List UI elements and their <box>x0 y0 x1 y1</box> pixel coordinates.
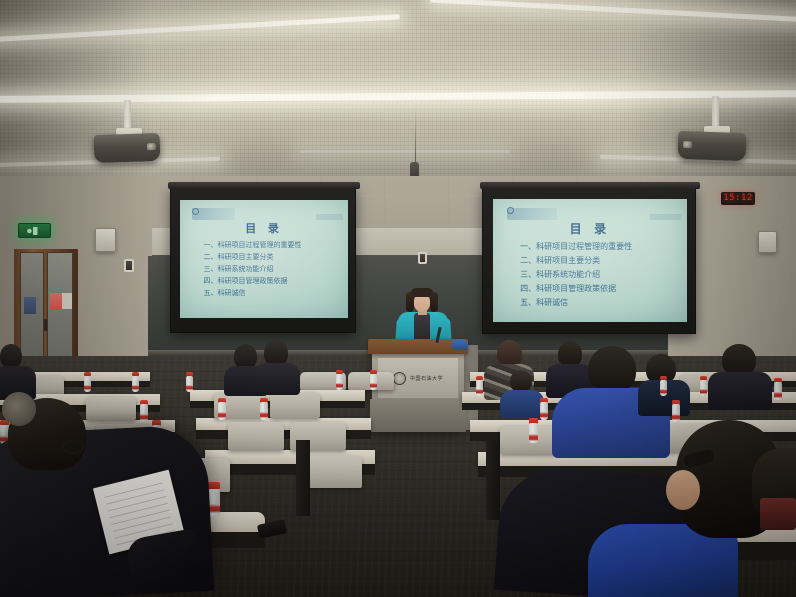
door-notice-white <box>62 293 72 309</box>
bottle-body <box>218 402 226 420</box>
wall-camera-device <box>418 252 427 264</box>
door-notice-red <box>50 293 62 310</box>
bottle-label <box>132 385 139 390</box>
bottle-label <box>700 389 707 394</box>
attendee-torso <box>500 390 544 418</box>
slide-toc-item-1: 一、科研项目过程管理的重要性 <box>204 240 338 250</box>
ceiling-light-strip <box>300 150 510 153</box>
projector-left <box>94 133 161 163</box>
bottle-body <box>476 380 483 396</box>
water-bottle[interactable] <box>132 372 139 392</box>
bottle-body <box>774 382 782 400</box>
right-screen: 目 录 一、科研项目过程管理的重要性 二、科研项目主要分类 三、科研系统功能介绍… <box>482 186 696 334</box>
bottle-label <box>218 412 226 418</box>
bottle-label <box>476 389 483 394</box>
bottle-body <box>660 380 667 396</box>
slide-toc-item-3: 三、科研系统功能介绍 <box>204 264 338 274</box>
slide-toc-item-5: 五、科研诚信 <box>520 297 675 308</box>
water-bottle[interactable] <box>700 376 707 396</box>
right-screen-roller <box>480 182 700 189</box>
attendee-torso <box>254 363 300 395</box>
water-bottle[interactable] <box>660 376 667 396</box>
bottle-label <box>540 412 548 418</box>
bottle-label <box>370 383 377 388</box>
slide-toc-item-4: 四、科研项目管理政策依据 <box>204 276 338 286</box>
wall-speaker-right <box>758 231 777 253</box>
wall-clock-time: 15:12 <box>723 194 753 203</box>
left-screen-surface: 目 录 一、科研项目过程管理的重要性 二、科研项目主要分类 三、科研系统功能介绍… <box>180 200 348 318</box>
slide-logo-mark-icon <box>507 207 514 214</box>
attendee-head <box>0 344 22 368</box>
water-bottle[interactable] <box>774 378 782 400</box>
podium-lower-shelf <box>370 399 466 432</box>
left-screen: 目 录 一、科研项目过程管理的重要性 二、科研项目主要分类 三、科研系统功能介绍… <box>170 186 356 333</box>
bottle-label <box>672 414 680 420</box>
water-bottle[interactable] <box>476 376 483 396</box>
water-bottle[interactable] <box>672 400 680 422</box>
projector-mount-pole <box>124 100 131 130</box>
door-notice-blue <box>24 297 36 314</box>
bottle-body <box>529 423 538 443</box>
eyeglasses-icon <box>62 440 84 454</box>
bottle-body <box>260 402 268 420</box>
bottle-body <box>540 402 548 420</box>
attendee-head <box>497 340 522 367</box>
slide-toc-item-5: 五、科研诚信 <box>204 288 338 298</box>
projector-right <box>678 131 747 161</box>
wall-camera-device <box>124 259 134 272</box>
water-bottle[interactable] <box>529 418 538 443</box>
slide-toc-item-2: 二、科研项目主要分类 <box>520 255 675 266</box>
bottle-body <box>672 404 680 422</box>
bottle-body <box>140 404 148 422</box>
podium-name-plate: 中国石油大学 <box>410 375 443 382</box>
bottle-body <box>84 376 91 392</box>
exit-sign <box>18 223 51 238</box>
slide-university-logo <box>507 208 557 220</box>
slide-toc-list: 一、科研项目过程管理的重要性 二、科研项目主要分类 三、科研系统功能介绍 四、科… <box>204 240 338 298</box>
slide-toc-list: 一、科研项目过程管理的重要性 二、科研项目主要分类 三、科研系统功能介绍 四、科… <box>520 241 675 308</box>
water-bottle[interactable] <box>218 398 226 420</box>
desk-support-leg <box>296 440 310 516</box>
bottle-label <box>774 392 782 398</box>
bottle-body <box>186 376 193 392</box>
water-bottle[interactable] <box>370 370 377 390</box>
lecture-hall-photo: 15:12 目 录 一、科研项目过程管理的重要性 二、科研项目主要分类 三、科研… <box>0 0 796 597</box>
bottle-label <box>84 385 91 390</box>
bottle-body <box>336 374 343 390</box>
university-emblem-icon <box>393 372 406 385</box>
attendee-front-right-ear <box>666 470 700 510</box>
seat-back <box>228 422 284 450</box>
seat-back <box>270 392 320 418</box>
slide-title: 目 录 <box>493 220 687 237</box>
desk-support-leg <box>486 440 500 520</box>
projector-mount-pole <box>712 96 719 128</box>
water-bottle[interactable] <box>540 398 548 420</box>
slide-toc-item-4: 四、科研项目管理政策依据 <box>520 283 675 294</box>
running-man-exit-icon <box>25 227 45 235</box>
slide-left: 目 录 一、科研项目过程管理的重要性 二、科研项目主要分类 三、科研系统功能介绍… <box>180 200 348 318</box>
projector-lens-icon <box>683 141 692 148</box>
bottle-label <box>260 412 268 418</box>
projector-lens-icon <box>147 143 156 150</box>
water-bottle[interactable] <box>336 370 343 390</box>
microphone-cable <box>415 96 416 164</box>
door-handle[interactable] <box>44 319 47 331</box>
right-screen-surface: 目 录 一、科研项目过程管理的重要性 二、科研项目主要分类 三、科研系统功能介绍… <box>493 199 687 322</box>
presenter-inner-top <box>414 313 430 342</box>
bottle-body <box>132 376 139 392</box>
podium-blue-object <box>452 340 468 350</box>
attendee-front-left-hair-bun <box>2 392 36 426</box>
slide-toc-item-1: 一、科研项目过程管理的重要性 <box>520 241 675 252</box>
slide-toc-item-2: 二、科研项目主要分类 <box>204 252 338 262</box>
water-bottle[interactable] <box>186 372 193 392</box>
water-bottle[interactable] <box>140 400 148 422</box>
bottle-body <box>700 380 707 396</box>
attendee-torso <box>708 372 772 410</box>
slide-right: 目 录 一、科研项目过程管理的重要性 二、科研项目主要分类 三、科研系统功能介绍… <box>493 199 687 322</box>
slide-toc-item-3: 三、科研系统功能介绍 <box>520 269 675 280</box>
bottle-body <box>370 374 377 390</box>
water-bottle[interactable] <box>260 398 268 420</box>
left-screen-roller <box>168 182 360 189</box>
attendee-head <box>588 346 636 392</box>
wall-clock: 15:12 <box>721 192 755 205</box>
bottle-label <box>336 383 343 388</box>
seat-back <box>86 396 136 420</box>
attendee-head <box>510 370 532 392</box>
bottle-label <box>529 434 538 440</box>
slide-logo-mark-icon <box>192 208 199 215</box>
wall-speaker-left <box>95 228 116 252</box>
bottle-label <box>140 414 148 420</box>
slide-title: 目 录 <box>180 220 348 236</box>
bottle-label <box>660 389 667 394</box>
bottle-label <box>186 385 193 390</box>
red-object-on-desk <box>760 498 796 530</box>
water-bottle[interactable] <box>84 372 91 392</box>
